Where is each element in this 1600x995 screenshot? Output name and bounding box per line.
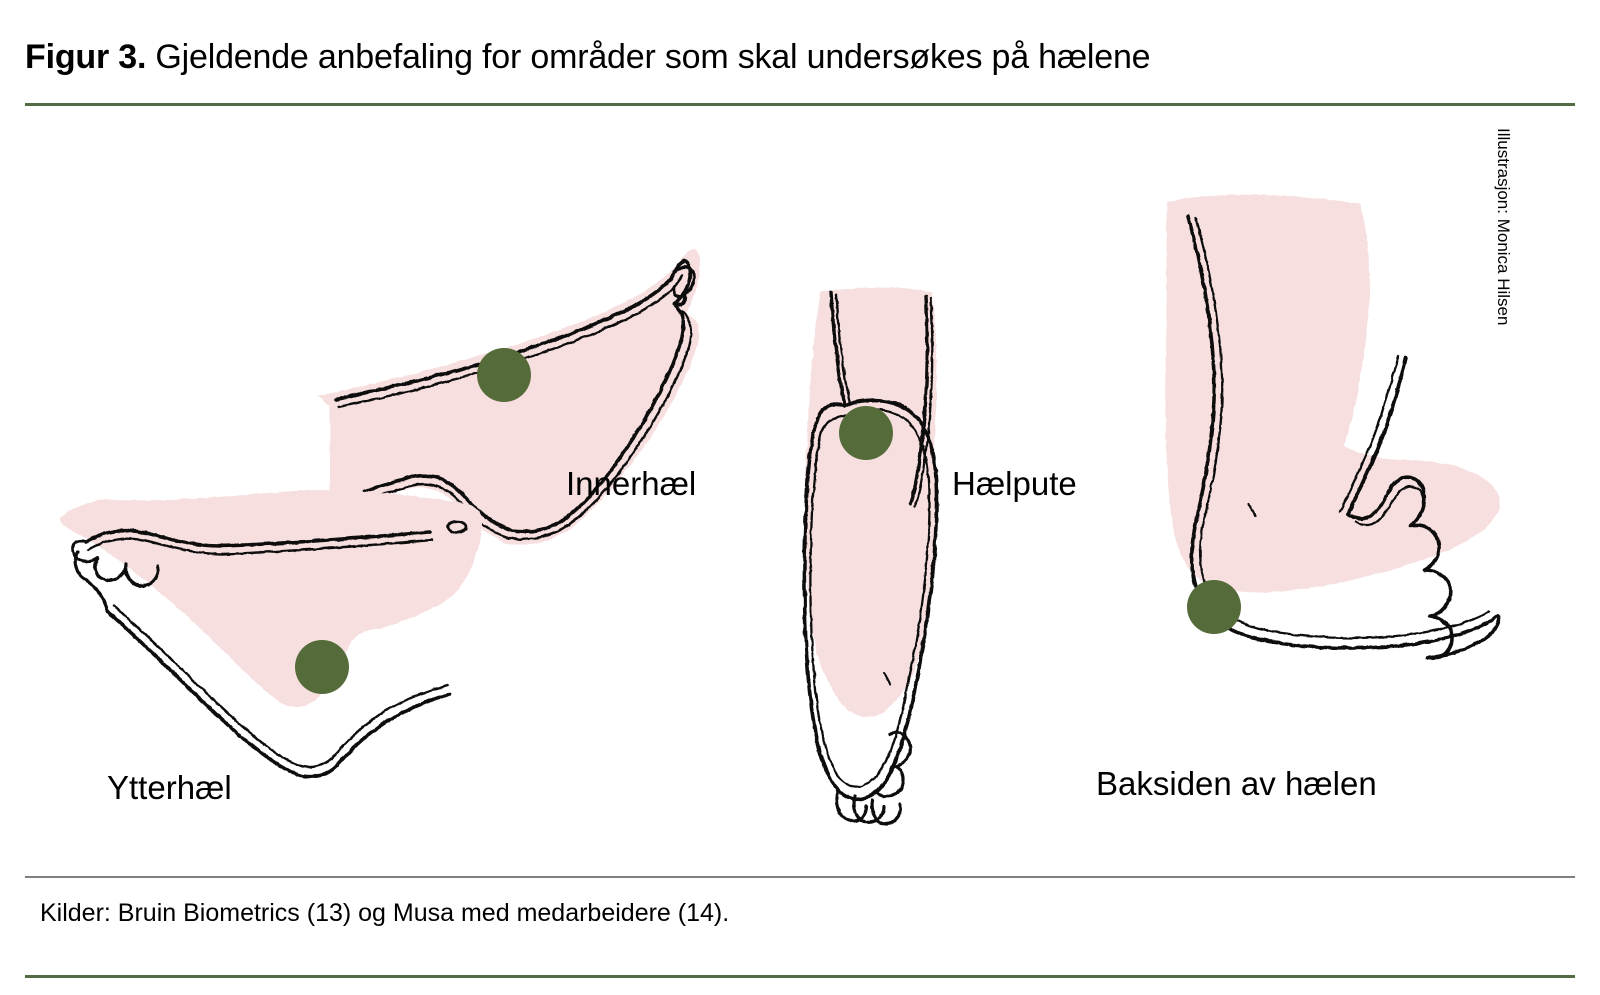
- label-ytterhael: Ytterhæl: [107, 768, 232, 808]
- lateral-foot-assessment-marker: [295, 640, 349, 694]
- plantar-foot-assessment-marker: [839, 406, 893, 460]
- label-haelpute: Hælpute: [952, 464, 1077, 504]
- label-baksiden: Baksiden av hælen: [1096, 764, 1377, 804]
- page-title: Figur 3. Gjeldende anbefaling for område…: [25, 36, 1150, 78]
- figure-number: Figur 3.: [25, 38, 146, 76]
- illustration-area: Innerhæl Hælpute Ytterhæl Baksiden av hæ…: [0, 106, 1600, 874]
- label-innerhael: Innerhæl: [566, 464, 696, 504]
- illustration-credit: Illustrasjon: Monica Hilsen: [1493, 128, 1513, 325]
- figure-caption-text: Gjeldende anbefaling for områder som ska…: [146, 38, 1150, 76]
- illustration-posterior-heel: [1165, 195, 1500, 659]
- footer-divider-green: [25, 975, 1575, 978]
- illustration-lateral-foot: [60, 490, 482, 777]
- lateral-foot-skin-fill: [60, 490, 482, 707]
- illustration-plantar-foot: [804, 288, 936, 825]
- source-line: Kilder: Bruin Biometrics (13) og Musa me…: [40, 897, 729, 929]
- posterior-heel-assessment-marker: [1187, 580, 1241, 634]
- figure-container: Figur 3. Gjeldende anbefaling for område…: [0, 0, 1600, 995]
- source-divider-gray: [25, 876, 1575, 878]
- medial-foot-assessment-marker: [477, 348, 531, 402]
